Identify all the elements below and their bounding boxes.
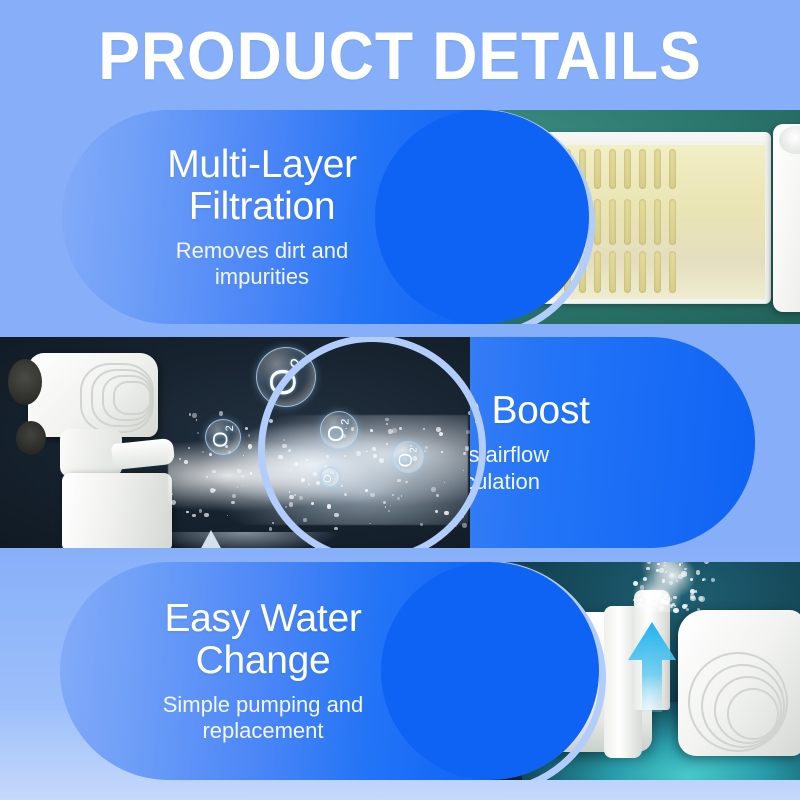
- bubble: [644, 605, 646, 607]
- oxygen-label: O2: [326, 418, 353, 442]
- sponge-slot: [624, 251, 631, 293]
- feature-subtitle: Removes dirt and impurities: [176, 238, 348, 291]
- feature-panel-easy-water-change: Easy Water Change Simple pumping and rep…: [0, 562, 800, 780]
- droplet: [212, 470, 215, 473]
- housing-fin: [727, 688, 779, 740]
- bubble: [679, 563, 681, 565]
- droplet: [465, 446, 470, 451]
- droplet: [299, 496, 303, 500]
- sponge-slot: [654, 199, 661, 245]
- suction-cup-lower: [16, 421, 46, 455]
- droplet: [431, 487, 436, 492]
- droplet: [385, 418, 388, 421]
- droplet: [289, 502, 293, 506]
- bubble: [635, 603, 640, 608]
- droplet: [441, 451, 443, 453]
- droplet: [308, 483, 311, 486]
- oxygen-bubble: O2: [320, 411, 358, 449]
- droplet: [249, 449, 250, 450]
- gravel-highlight: [150, 532, 340, 548]
- up-arrow-icon: [626, 620, 678, 712]
- droplet: [444, 482, 445, 483]
- bubble: [646, 567, 649, 570]
- bubble: [681, 562, 683, 564]
- sponge-slot: [609, 251, 616, 293]
- droplet: [290, 469, 292, 471]
- oxygen-label: O2: [397, 447, 420, 467]
- droplet: [197, 432, 199, 434]
- infographic-page: PRODUCT DETAILS Multi-Layer Filtration R: [0, 0, 800, 800]
- bubble: [659, 568, 664, 573]
- droplet: [436, 427, 441, 432]
- bubble: [636, 582, 638, 584]
- feature-title: Multi-Layer Filtration: [167, 144, 357, 228]
- droplet: [306, 459, 308, 461]
- page-title-bar: PRODUCT DETAILS: [0, 14, 800, 98]
- droplet: [231, 501, 234, 504]
- bubble: [684, 568, 687, 571]
- feature-card-easy-water-change: Easy Water Change Simple pumping and rep…: [60, 562, 490, 780]
- droplet: [242, 485, 243, 486]
- bubble: [690, 596, 696, 602]
- feature-panel-multi-layer-filtration: Multi-Layer Filtration Removes dirt and …: [0, 110, 800, 324]
- oxygen-bubble: O2: [205, 419, 241, 455]
- droplet: [192, 413, 197, 418]
- droplet: [334, 513, 338, 517]
- droplet: [370, 493, 374, 497]
- bubble: [699, 596, 705, 602]
- bubble: [665, 571, 667, 573]
- sponge-slot: [669, 251, 676, 293]
- sponge-slot: [639, 149, 646, 189]
- feature-title: Easy Water Change: [164, 598, 361, 682]
- sponge-slot: [609, 149, 616, 189]
- bubble: [673, 596, 676, 599]
- sponge-slot: [669, 199, 676, 245]
- feature-image-oxygen-boost: O2O2O2O2O2: [0, 337, 470, 548]
- droplet: [466, 430, 470, 434]
- bubble: [664, 562, 666, 563]
- droplet: [462, 516, 464, 518]
- droplet: [370, 429, 373, 432]
- bubble: [681, 571, 687, 577]
- droplet: [241, 475, 244, 478]
- sponge-slot: [624, 149, 631, 189]
- droplet: [171, 500, 176, 505]
- droplet: [425, 446, 428, 449]
- suction-cup-upper: [8, 359, 42, 405]
- droplet: [344, 493, 347, 496]
- sponge-slot: [669, 149, 676, 189]
- feature-subtitle: Simple pumping and replacement: [163, 692, 364, 745]
- droplet: [171, 493, 173, 495]
- housing-fin: [113, 381, 151, 415]
- droplet: [405, 481, 408, 484]
- oxygen-label: O2: [210, 426, 235, 448]
- sponge-slot: [639, 199, 646, 245]
- bubble: [659, 606, 663, 610]
- droplet: [356, 451, 361, 456]
- bubble: [656, 591, 661, 596]
- droplet: [341, 485, 343, 487]
- droplet: [397, 479, 401, 483]
- pump-head: [28, 353, 158, 437]
- sponge-slot: [654, 149, 661, 189]
- droplet: [289, 495, 293, 499]
- oxygen-bubble: O2: [392, 441, 424, 473]
- sponge-slot: [624, 199, 631, 245]
- droplet: [455, 522, 458, 525]
- oxygen-bubble: O2: [256, 347, 316, 407]
- droplet: [269, 527, 273, 531]
- droplet: [327, 504, 332, 509]
- sponge-slot: [639, 251, 646, 293]
- bubble: [711, 578, 715, 582]
- page-title: PRODUCT DETAILS: [98, 22, 701, 90]
- decor-triangle: [200, 530, 222, 548]
- droplet: [179, 458, 180, 459]
- droplet: [392, 428, 397, 433]
- sponge-slot: [594, 149, 601, 189]
- droplet: [444, 511, 449, 516]
- droplet: [423, 428, 425, 430]
- droplet: [192, 514, 195, 517]
- droplet: [278, 455, 282, 459]
- bubble: [654, 603, 657, 606]
- oxygen-bubble: O2: [320, 467, 340, 487]
- droplet: [266, 452, 267, 453]
- droplet: [188, 447, 190, 449]
- droplet: [272, 522, 274, 524]
- sponge-slot: [594, 251, 601, 293]
- droplet: [241, 470, 242, 471]
- bubble: [690, 589, 695, 594]
- bubble: [702, 578, 706, 582]
- feature-card-multi-layer-filtration: Multi-Layer Filtration Removes dirt and …: [62, 110, 482, 324]
- bubble: [641, 605, 643, 607]
- bubble: [640, 585, 644, 589]
- droplet: [379, 458, 384, 463]
- sponge-slot: [609, 199, 616, 245]
- droplet: [303, 518, 307, 522]
- droplet: [372, 447, 376, 451]
- droplet: [436, 494, 438, 496]
- droplet: [468, 411, 470, 416]
- droplet: [392, 494, 394, 496]
- droplet: [462, 523, 466, 527]
- feature-panel-oxygen-boost: Oxygen Boost Improves airflow and circul…: [0, 337, 800, 548]
- droplet: [397, 497, 400, 500]
- oxygen-label: O2: [323, 471, 337, 483]
- oxygen-label: O2: [265, 358, 307, 396]
- pump-outlet-housing: [678, 610, 800, 756]
- droplet: [199, 509, 203, 513]
- sponge-slot: [654, 251, 661, 293]
- sponge-slot: [594, 199, 601, 245]
